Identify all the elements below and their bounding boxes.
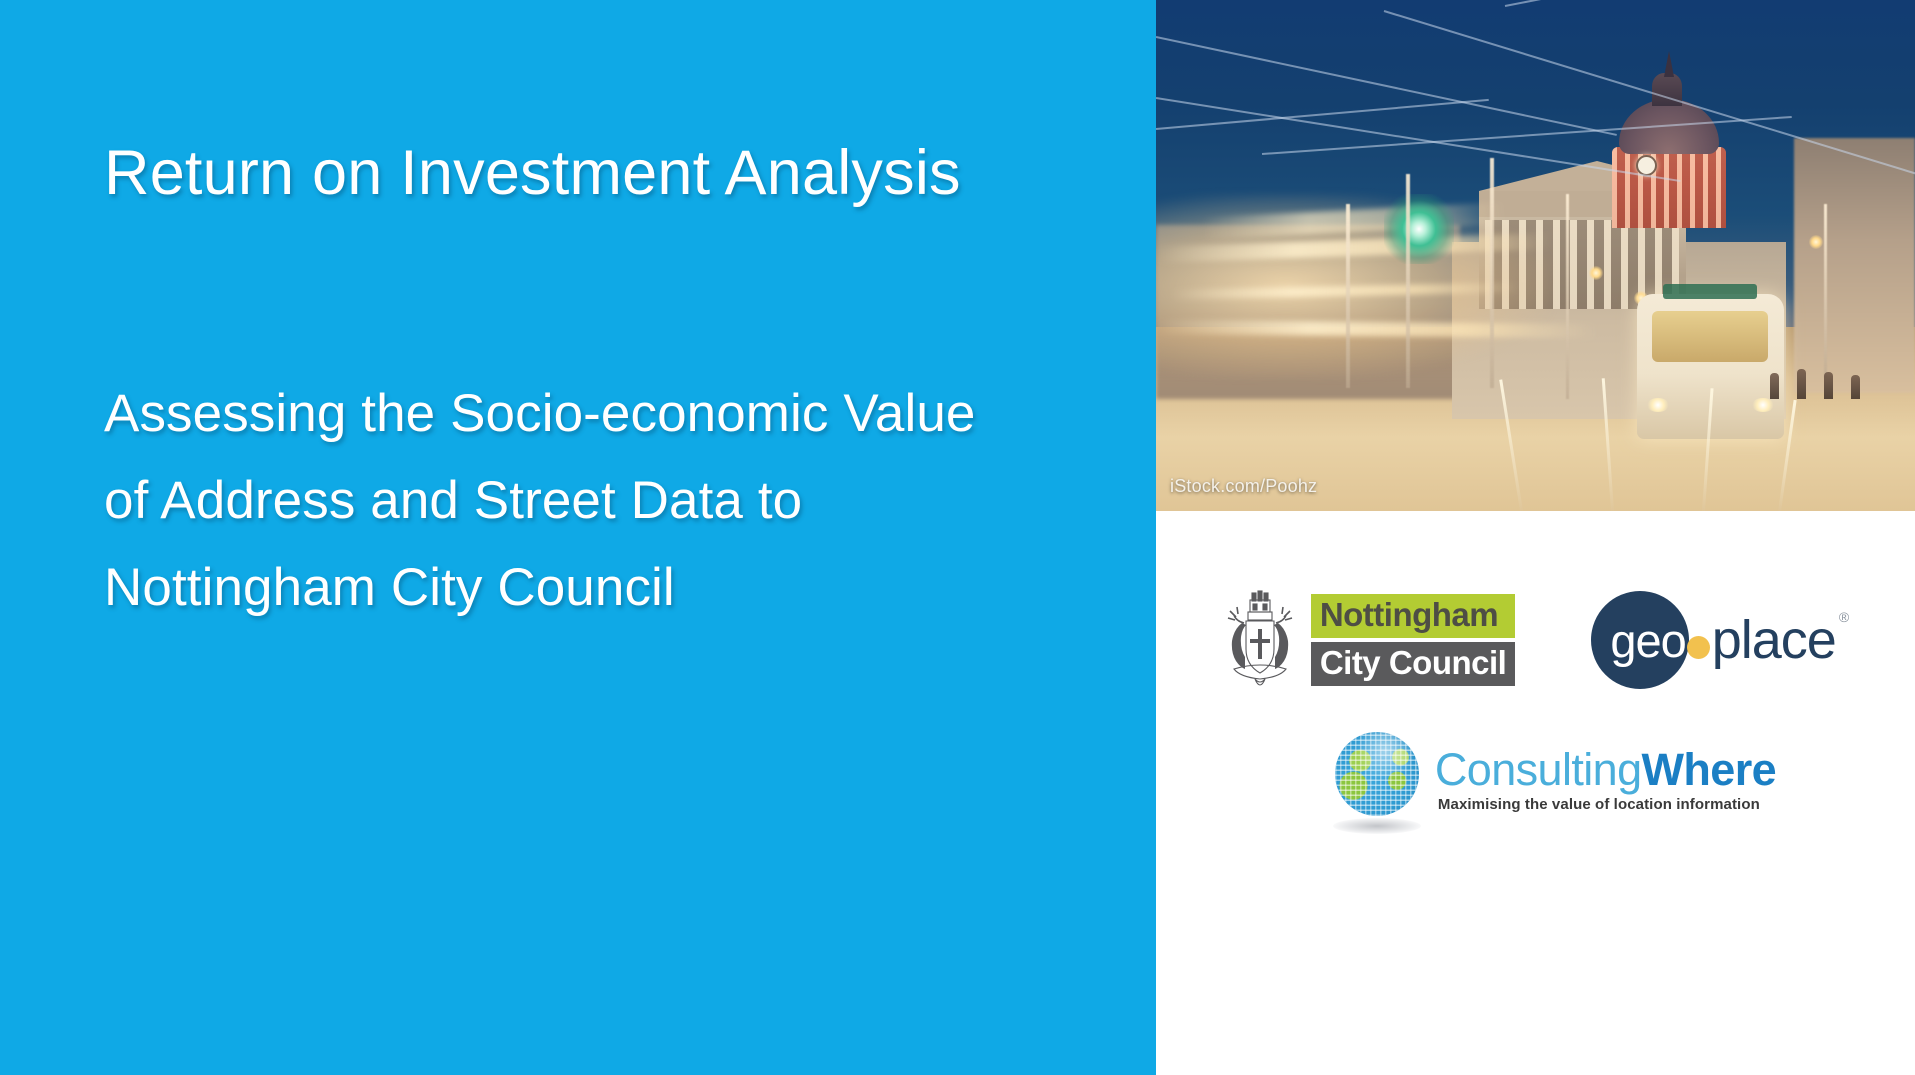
title-panel: Return on Investment Analysis Assessing …	[0, 0, 1156, 1075]
page-title: Return on Investment Analysis	[104, 138, 1084, 209]
consultingwhere-name: ConsultingWhere	[1435, 747, 1776, 793]
nottingham-council-house-photo: iStock.com/Poohz	[1156, 0, 1915, 511]
cw-consulting-label: Consulting	[1435, 744, 1642, 795]
lamp-post	[1566, 194, 1569, 398]
pedestrian	[1797, 369, 1806, 399]
coat-of-arms-icon	[1222, 587, 1298, 693]
street-lamp-glow	[1589, 266, 1603, 280]
logo-row-bottom: ConsultingWhere Maximising the value of …	[1156, 723, 1915, 843]
partner-logos: Nottingham City Council geo place ®	[1156, 511, 1915, 1075]
registered-trademark-icon: ®	[1839, 609, 1849, 625]
ncc-wordmark: Nottingham City Council	[1311, 594, 1516, 685]
geoplace-geo-label: geo	[1610, 613, 1685, 668]
logo-row-top: Nottingham City Council geo place ®	[1156, 580, 1915, 700]
title-block: Return on Investment Analysis	[104, 138, 1084, 209]
pedestrian	[1770, 373, 1779, 399]
lamp-post	[1406, 174, 1410, 389]
photo-credit: iStock.com/Poohz	[1170, 476, 1317, 497]
consultingwhere-wordmark: ConsultingWhere Maximising the value of …	[1435, 747, 1776, 813]
globe-shadow	[1333, 818, 1421, 834]
consultingwhere-tagline: Maximising the value of location informa…	[1438, 796, 1776, 813]
media-panel: iStock.com/Poohz	[1156, 0, 1915, 1075]
dome-spire	[1664, 51, 1674, 77]
consultingwhere-logo: ConsultingWhere Maximising the value of …	[1329, 730, 1776, 836]
ncc-nottingham-label: Nottingham	[1311, 594, 1516, 638]
green-traffic-light-icon	[1384, 194, 1454, 264]
cw-where-label: Where	[1642, 744, 1777, 795]
nottingham-city-council-logo: Nottingham City Council	[1222, 587, 1516, 693]
tram-windscreen	[1652, 311, 1769, 362]
pedestrian	[1824, 372, 1833, 399]
globe-icon	[1329, 730, 1425, 836]
geoplace-logo: geo place ®	[1591, 587, 1849, 693]
ncc-city-council-label: City Council	[1311, 642, 1516, 686]
subtitle-line-1: Assessing the Socio-economic Value	[104, 370, 1054, 457]
subtitle-line-2: of Address and Street Data to	[104, 457, 1054, 544]
lamp-post	[1490, 158, 1494, 388]
subtitle-line-3: Nottingham City Council	[104, 544, 1054, 631]
dome-drum-columns	[1612, 147, 1726, 228]
presentation-slide: Return on Investment Analysis Assessing …	[0, 0, 1915, 1075]
geoplace-place-label: place	[1712, 609, 1836, 671]
globe-sphere	[1335, 732, 1419, 816]
pedestrian	[1851, 375, 1860, 399]
geoplace-dot-icon	[1687, 636, 1710, 659]
pedestrian-group	[1763, 307, 1884, 399]
subtitle-block: Assessing the Socio-economic Value of Ad…	[104, 370, 1054, 631]
lamp-post	[1346, 204, 1350, 388]
tram-destination-board	[1663, 284, 1757, 299]
street-lamp-glow	[1809, 235, 1823, 249]
